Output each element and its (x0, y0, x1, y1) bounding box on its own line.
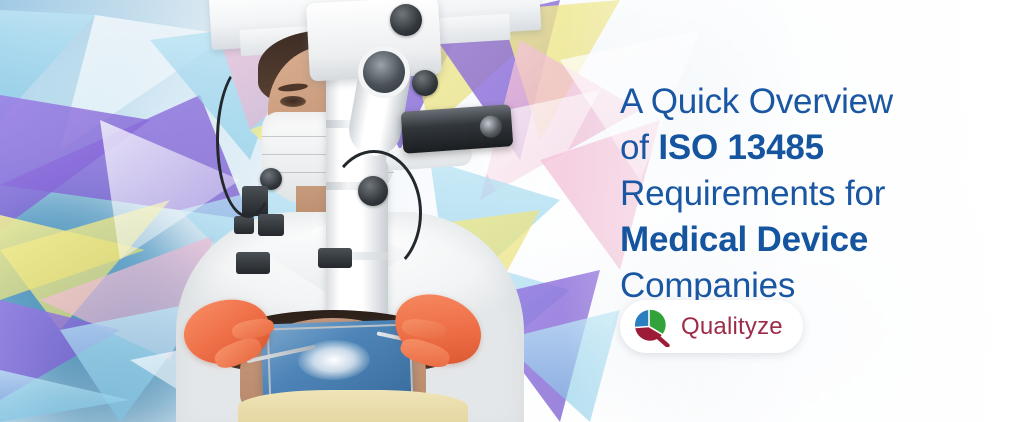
headline-line-2: of ISO 13485 (620, 125, 990, 171)
headline-line-1: A Quick Overview (620, 79, 990, 125)
microscope-camera (401, 104, 514, 154)
microscope-cable-right (326, 150, 422, 276)
headline-line-3: Requirements for (620, 171, 990, 217)
qualityze-wordmark: Qualityze (681, 315, 783, 339)
clinician-eye-left (280, 96, 306, 107)
patient-bib (238, 390, 468, 422)
iso-13485-banner: A Quick Overview of ISO 13485 Requiremen… (0, 0, 1024, 422)
microscope-knob-top (390, 4, 422, 36)
headline: A Quick Overview of ISO 13485 Requiremen… (620, 79, 990, 309)
microscope-knob-upper-right (412, 70, 438, 96)
headline-line-4-emphasis: Medical Device (620, 220, 868, 259)
qualityze-logo-badge[interactable]: Qualityze (620, 300, 803, 353)
qualityze-q-logo-icon (632, 307, 672, 347)
microscope-cable-left (216, 62, 280, 218)
microscope-control-block-3 (258, 214, 284, 236)
headline-line-2-emphasis: ISO 13485 (658, 128, 824, 167)
microscope-control-block-2 (234, 216, 254, 234)
headline-line-3-text: Requirements for (620, 174, 885, 213)
clinician-photo (150, 0, 570, 422)
camera-lens (479, 115, 502, 138)
headline-line-2-prefix: of (620, 128, 658, 167)
headline-line-4: Medical Device (620, 217, 990, 263)
microscope-control-block-4 (236, 252, 270, 274)
headline-line-1-text: A Quick Overview (620, 82, 893, 121)
